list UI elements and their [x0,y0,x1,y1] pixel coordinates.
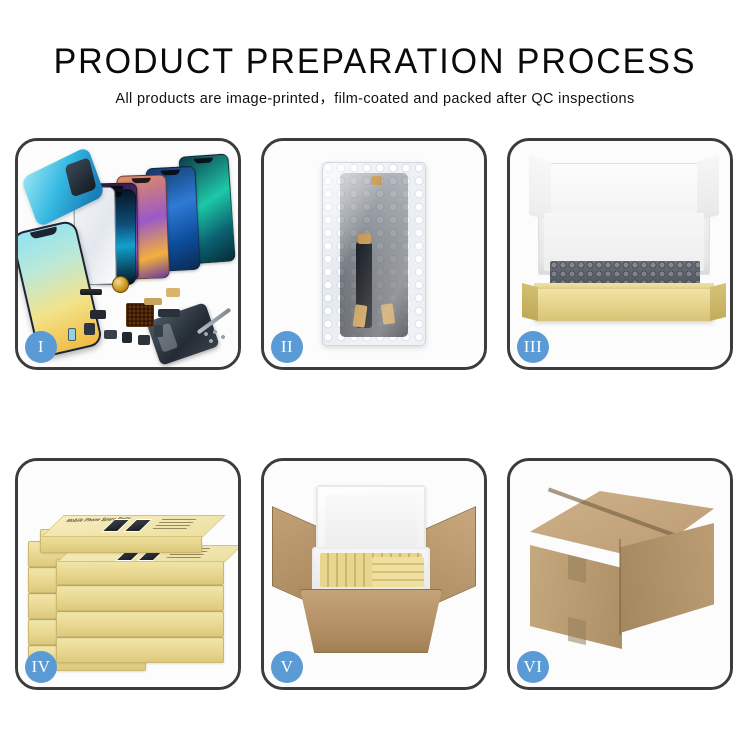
speaker-part [80,289,102,295]
flex-cable-part [158,309,180,317]
gold-connector-part [166,288,180,297]
step-image-4: Mobile Phone Spare Parts Mobile Phone Sp… [18,461,238,687]
box-label-spec-lines [150,519,196,531]
spare-part [104,330,117,339]
page-subtitle: All products are image-printed，film-coat… [0,90,750,108]
step-badge-2: II [271,331,303,363]
yellow-box-front [534,289,714,321]
step-image-2 [264,141,484,367]
carton-corner-edge [619,539,621,635]
stacked-box-labeled: Mobile Phone Spare Parts [56,559,224,585]
spare-part [84,323,95,335]
step-panel-3: III [507,138,733,370]
wrapped-phone-part [340,173,408,337]
box-top-face: Mobile Phone Spare Parts [41,515,226,537]
step-badge-3: III [517,331,549,363]
carton-tape-mark [568,555,586,583]
chip-grid-part [126,303,154,327]
step-panel-6: VI [507,458,733,690]
yellow-boxes-inside [372,557,424,587]
stacked-box [56,637,224,663]
spare-part [138,335,150,345]
sim-tray-part [68,328,76,341]
spare-part [90,310,106,319]
connector [381,303,396,324]
connector [352,304,367,327]
gold-coil-part [112,276,129,293]
carton-tape-mark [568,617,586,645]
spare-part [122,332,132,343]
step-image-6 [510,461,730,687]
stacked-box [56,585,224,611]
header: PRODUCT PREPARATION PROCESS All products… [0,0,750,108]
step-badge-4: IV [25,651,57,683]
stacked-box [56,611,224,637]
step-panel-5: V [261,458,487,690]
phone-notch-icon [161,170,180,176]
stacked-box-top-labeled: Mobile Phone Spare Parts [40,529,202,553]
connector [358,234,371,244]
process-steps-grid: I II [15,138,735,690]
product-preparation-infographic: PRODUCT PREPARATION PROCESS All products… [0,0,750,750]
step-image-5 [264,461,484,687]
page-title: PRODUCT PREPARATION PROCESS [11,42,739,82]
connector [371,176,382,185]
box-stack: Mobile Phone Spare Parts Mobile Phone Sp… [28,481,230,671]
screws-group [202,329,228,345]
spare-part [154,325,163,337]
phone-notch-icon [194,157,213,163]
step-image-3 [510,141,730,367]
phone-notch-icon [132,178,151,184]
step-image-1 [18,141,238,367]
foam-box-lid [316,485,426,555]
step-badge-5: V [271,651,303,683]
step-panel-1: I [15,138,241,370]
gold-connector-part [144,298,162,305]
step-badge-6: VI [517,651,549,683]
step-panel-4: Mobile Phone Spare Parts Mobile Phone Sp… [15,458,241,690]
step-panel-2: II [261,138,487,370]
step-badge-1: I [25,331,57,363]
carton-front [300,589,442,653]
bubble-wrap-bag [322,162,426,346]
